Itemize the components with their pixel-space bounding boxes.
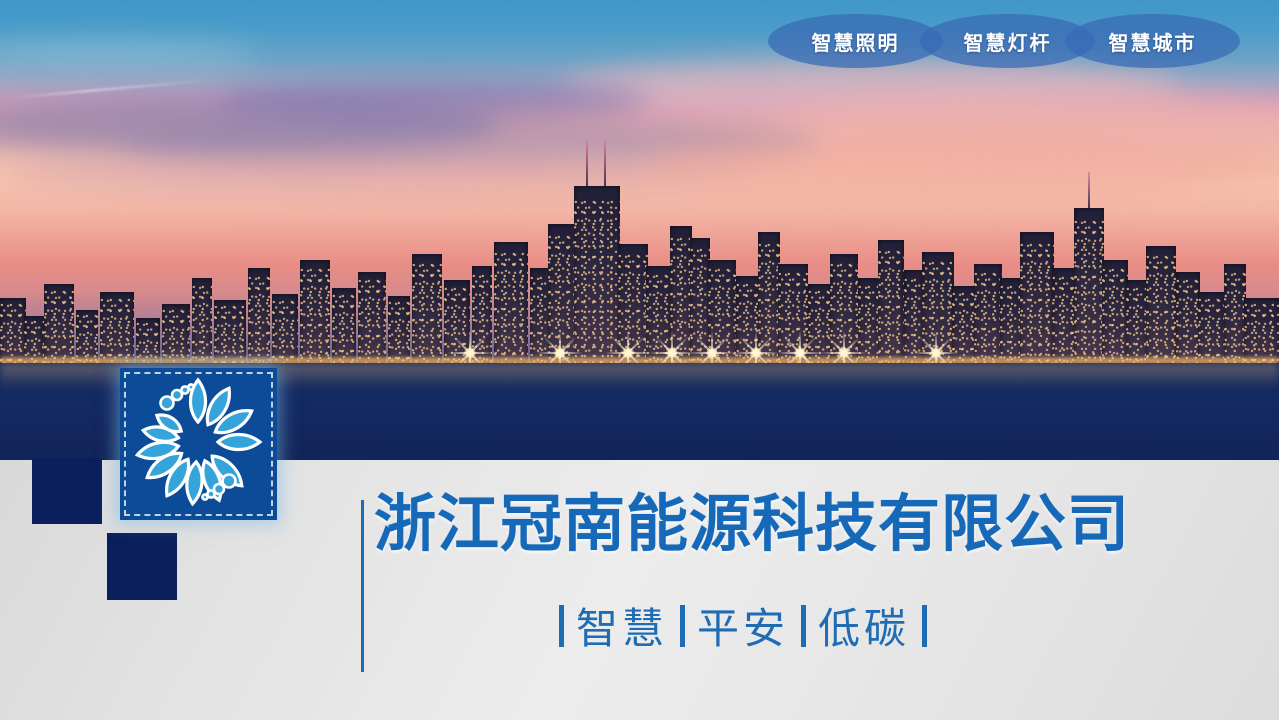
navy-decor-square-1 xyxy=(32,458,102,524)
keyword-badge-group: 智慧照明 智慧灯杆 智慧城市 xyxy=(760,14,1240,68)
city-skyline xyxy=(0,134,1279,364)
company-logo xyxy=(120,368,277,520)
tagline: 智慧 平安 低碳 xyxy=(553,595,933,656)
tagline-word-1: 智慧 xyxy=(576,595,668,656)
tagline-word-3: 低碳 xyxy=(818,595,910,656)
tagline-separator-bar xyxy=(801,605,806,647)
tagline-separator-bar xyxy=(559,605,564,647)
title-accent-rule xyxy=(361,500,364,672)
navy-decor-square-2 xyxy=(107,533,177,600)
badge-smart-lighting[interactable]: 智慧照明 xyxy=(768,14,943,68)
tagline-separator-bar xyxy=(922,605,927,647)
tagline-separator-bar xyxy=(680,605,685,647)
flower-petal-icon xyxy=(120,368,277,520)
badge-smart-city[interactable]: 智慧城市 xyxy=(1065,14,1240,68)
title-slide: 智慧照明 智慧灯杆 智慧城市 浙江冠南能源科技有限公司 智慧 平安 低碳 xyxy=(0,0,1279,720)
tagline-word-2: 平安 xyxy=(697,595,789,656)
company-name: 浙江冠南能源科技有限公司 xyxy=(374,492,1130,557)
